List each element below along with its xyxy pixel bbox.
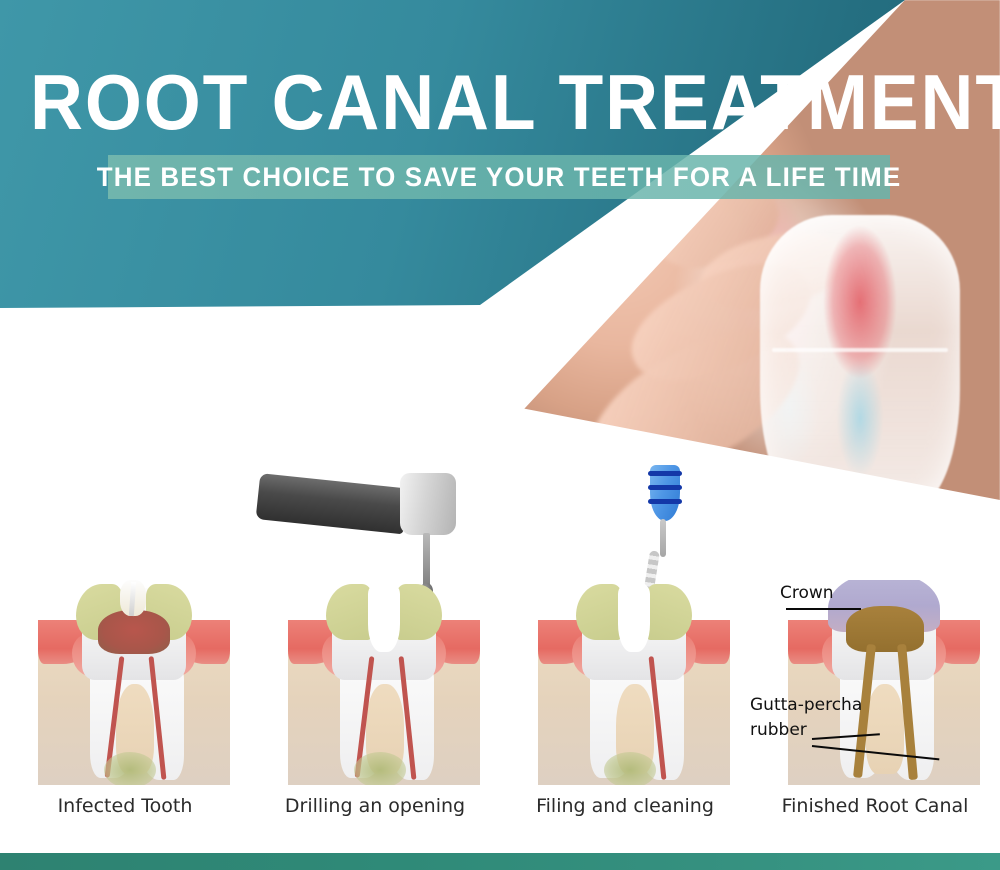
tooth-root-middle (866, 684, 904, 774)
tooth-diagram-infected (38, 580, 230, 785)
file-handle-ring (648, 471, 682, 476)
infographic-root: ROOT CANAL TREATMENT THE BEST CHOICE TO … (0, 0, 1000, 870)
label-gutta-percha: Gutta-percha (750, 695, 862, 715)
step-caption-3: Filing and cleaning (500, 795, 750, 817)
tooth-diagram-drilled (288, 580, 480, 785)
enamel-cusp-left (576, 584, 622, 640)
leader-line-crown (786, 608, 861, 610)
enamel-cusp-left (326, 584, 372, 640)
infected-pulp-chamber (98, 610, 170, 654)
access-opening (368, 582, 400, 652)
step-caption-2: Drilling an opening (250, 795, 500, 817)
step-panel-infected-tooth: Root Canal Abscess Infected Tooth (0, 455, 250, 835)
gutta-percha-chamber-fill (846, 606, 924, 652)
step-caption-1: Infected Tooth (0, 795, 250, 817)
instrument-area-empty (0, 455, 250, 580)
step-panel-drilling: Drilling an opening (250, 455, 500, 835)
file-handle-ring (648, 485, 682, 490)
dental-handpiece-body (256, 473, 408, 534)
subtitle-banner: THE BEST CHOICE TO SAVE YOUR TEETH FOR A… (108, 155, 890, 199)
step-panel-filing: Filing and cleaning (500, 455, 750, 835)
instrument-area-file (500, 455, 750, 580)
abscess-lesion (604, 752, 656, 785)
enamel-cusp-right (396, 584, 442, 640)
label-crown: Crown (780, 583, 834, 603)
page-subtitle: THE BEST CHOICE TO SAVE YOUR TEETH FOR A… (97, 162, 902, 193)
label-gutta-percha-line2: rubber (750, 720, 807, 740)
dental-handpiece-head (400, 473, 456, 535)
abscess-lesion (354, 752, 406, 785)
page-title: ROOT CANAL TREATMENT (30, 62, 970, 142)
tooth-diagram-filing (538, 580, 730, 785)
endodontic-file-handle (650, 465, 680, 521)
instrument-area-handpiece (250, 455, 500, 580)
access-opening (618, 582, 650, 652)
enamel-cusp-right (646, 584, 692, 640)
step-panel-finished: Crown Gutta-percha rubber Finished Root … (750, 455, 1000, 835)
abscess-lesion (104, 752, 156, 785)
instrument-area-empty (750, 455, 1000, 580)
endodontic-file-shaft (660, 519, 666, 557)
step-caption-4: Finished Root Canal (750, 795, 1000, 817)
treatment-steps-row: Root Canal Abscess Infected Tooth (0, 455, 1000, 835)
bottom-accent-strip (0, 853, 1000, 870)
file-handle-ring (648, 499, 682, 504)
